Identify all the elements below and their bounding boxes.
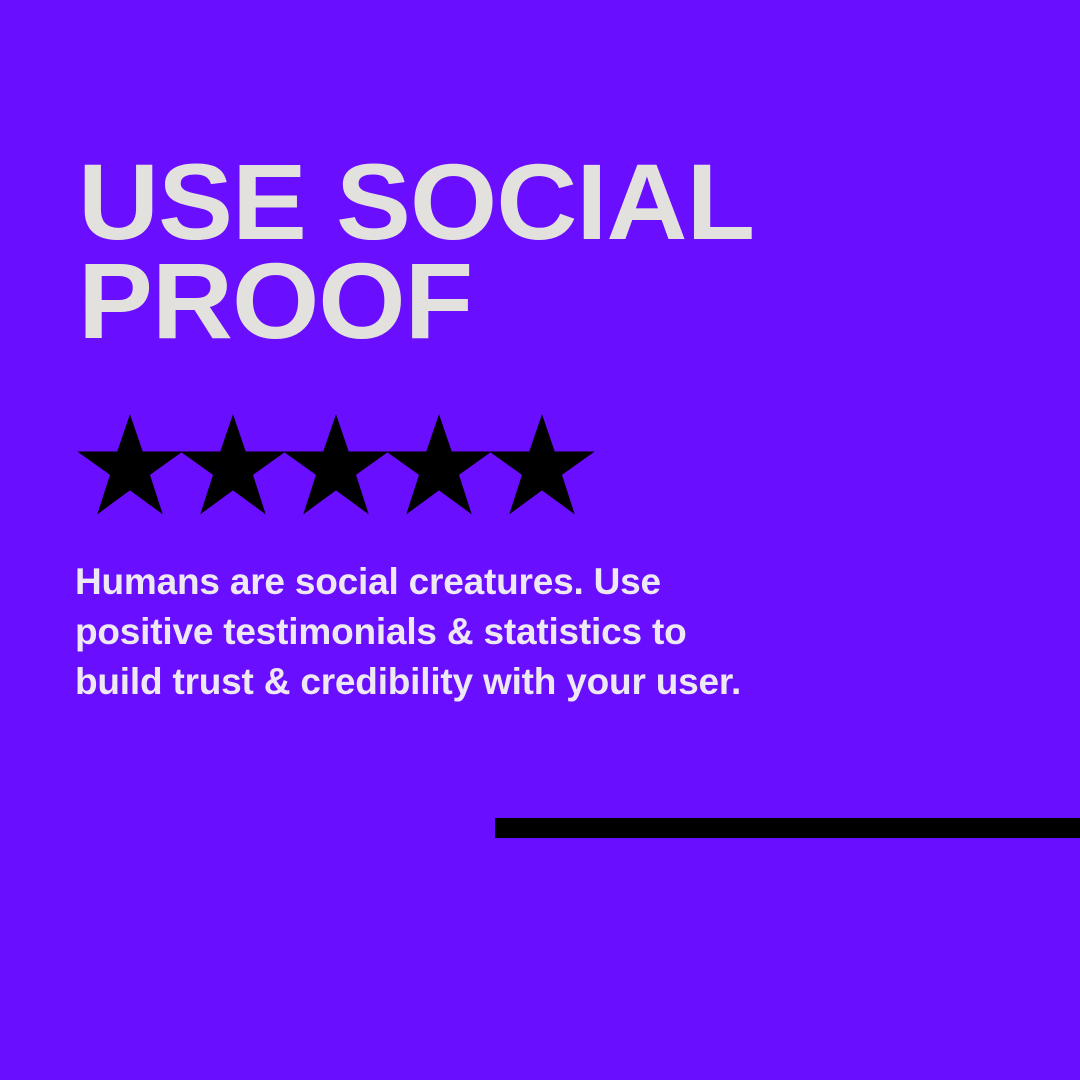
- star-rating: [76, 414, 596, 517]
- accent-bar: [495, 818, 1080, 838]
- star-icon: [385, 414, 493, 517]
- star-icon: [179, 414, 287, 517]
- star-icon: [488, 414, 596, 517]
- footer: @ransegall 004: [0, 940, 1080, 1080]
- star-icon: [76, 414, 184, 517]
- carousel-slide: USE SOCIAL PROOF Humans a: [0, 0, 1080, 1080]
- page-title: USE SOCIAL PROOF: [78, 152, 1014, 350]
- body-text: Humans are social creatures. Use positiv…: [75, 557, 865, 707]
- star-icon: [282, 414, 390, 517]
